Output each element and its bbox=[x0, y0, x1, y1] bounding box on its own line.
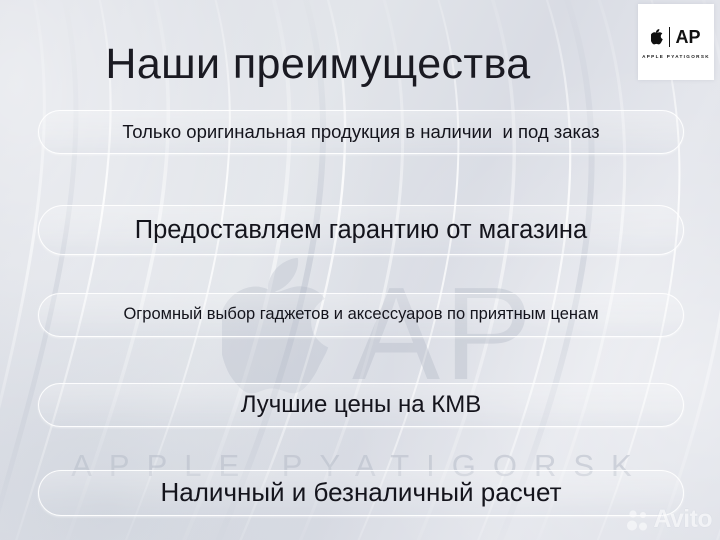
advantage-text: Только оригинальная продукция в наличии … bbox=[39, 122, 683, 141]
banner-content: AP APPLE PYATIGORSK Наши преимущества То… bbox=[0, 0, 720, 540]
advantage-text: Наличный и безналичный расчет bbox=[39, 479, 683, 506]
advantage-pill-5: Наличный и безналичный расчет bbox=[38, 470, 684, 516]
advantage-pill-4: Лучшие цены на КМВ bbox=[38, 383, 684, 427]
advantage-text: Огромный выбор гаджетов и аксессуаров по… bbox=[39, 306, 683, 323]
advantage-pill-1: Только оригинальная продукция в наличии … bbox=[38, 110, 684, 154]
advantage-text: Предоставляем гарантию от магазина bbox=[39, 217, 683, 244]
avito-label: Avito bbox=[653, 507, 712, 532]
advantage-pill-2: Предоставляем гарантию от магазина bbox=[38, 205, 684, 255]
page-title: Наши преимущества bbox=[0, 43, 720, 86]
advantage-pill-3: Огромный выбор гаджетов и аксессуаров по… bbox=[38, 293, 684, 337]
avito-logo-icon bbox=[626, 508, 650, 532]
promo-banner: AP APPLE PYATIGORSK AP APPLE PYATIGORSK … bbox=[0, 0, 720, 540]
avito-watermark: Avito bbox=[626, 507, 712, 532]
advantage-text: Лучшие цены на КМВ bbox=[39, 392, 683, 417]
